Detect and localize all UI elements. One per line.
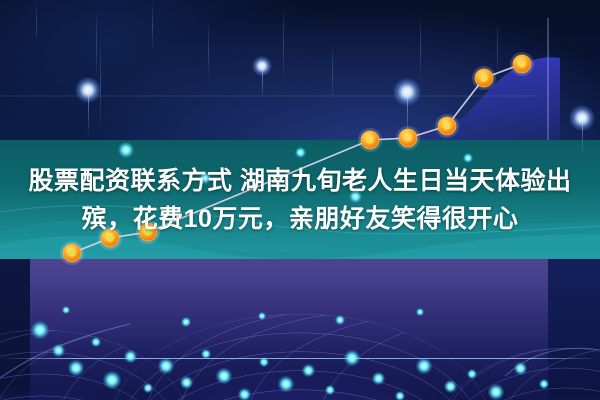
light-streak xyxy=(420,10,421,84)
light-streak xyxy=(96,8,97,78)
light-streak xyxy=(283,0,284,88)
light-streak xyxy=(332,40,333,104)
light-streak xyxy=(548,28,549,140)
headline-line-1: 股票配资联系方式 湖南九旬老人生日当天体验出 xyxy=(29,162,572,200)
light-streak xyxy=(36,0,37,46)
light-streak xyxy=(497,20,498,78)
light-streaks-group xyxy=(0,0,600,141)
bottom-horizon-line xyxy=(0,358,600,359)
mesh-dome-graphic xyxy=(0,258,600,400)
top-sky-background xyxy=(0,0,600,141)
light-streak xyxy=(208,18,209,80)
bottom-mesh-background xyxy=(0,258,600,400)
light-streak xyxy=(100,36,101,132)
headline-line-2: 殡，花费10万元，亲朋好友笑得很开心 xyxy=(82,200,519,238)
light-streak xyxy=(152,0,153,52)
headline-text-block: 股票配资联系方式 湖南九旬老人生日当天体验出 殡，花费10万元，亲朋好友笑得很开… xyxy=(0,140,600,259)
banner-image: 股票配资联系方式 湖南九旬老人生日当天体验出 殡，花费10万元，亲朋好友笑得很开… xyxy=(0,0,600,400)
